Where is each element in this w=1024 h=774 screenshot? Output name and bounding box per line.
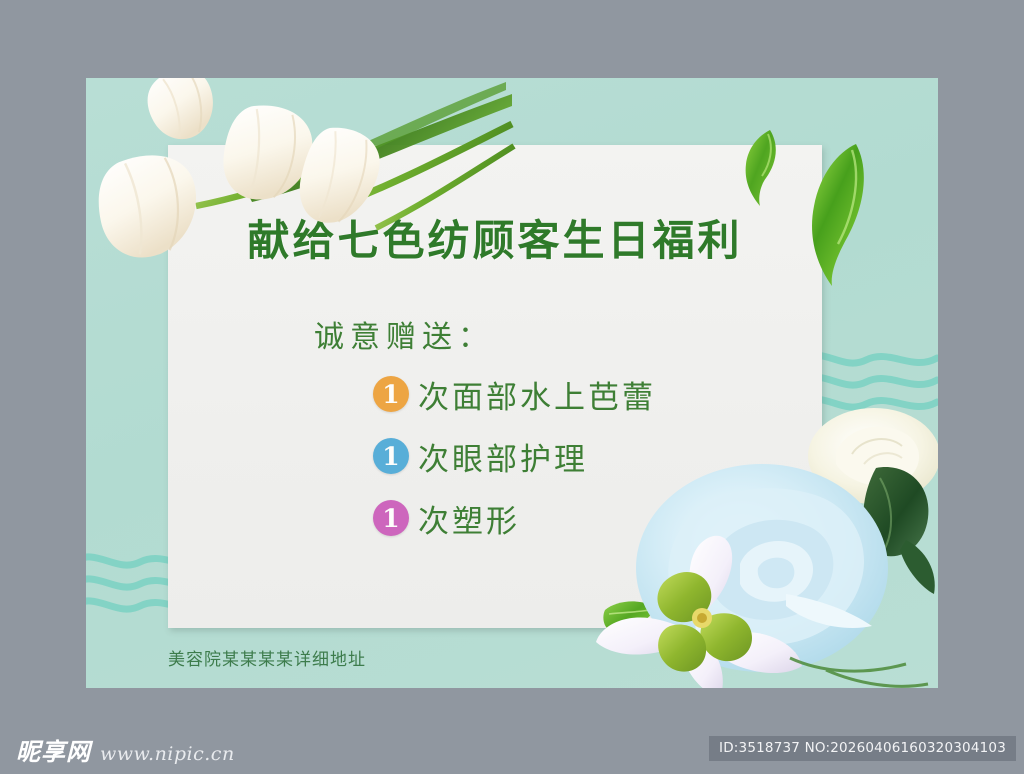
intro-text: 诚意赠送： <box>314 312 494 356</box>
site-brand: 昵享网 www.nipic.cn <box>16 732 235 767</box>
site-url: www.nipic.cn <box>100 743 235 765</box>
gift-label-2: 次眼部护理 <box>418 434 588 479</box>
green-leaf-icon <box>736 128 788 212</box>
poster-panel: 献给七色纺顾客生日福利 诚意赠送： 1 次面部水上芭蕾 1 次眼部护理 1 次塑… <box>86 78 938 688</box>
count-badge-3: 1 <box>373 500 409 536</box>
green-leaf-icon <box>804 140 874 294</box>
address-text: 美容院某某某某详细地址 <box>168 645 366 670</box>
poster-stage: 献给七色纺顾客生日福利 诚意赠送： 1 次面部水上芭蕾 1 次眼部护理 1 次塑… <box>0 0 1024 720</box>
watermark-bar: 昵享网 www.nipic.cn ID:3518737 NO:202604061… <box>0 720 1024 774</box>
count-badge-1: 1 <box>373 376 409 412</box>
gift-label-3: 次塑形 <box>418 496 520 541</box>
image-id-badge: ID:3518737 NO:20260406160320304103 <box>709 736 1016 761</box>
white-tulips-decoration <box>86 78 516 294</box>
site-logo: 昵享网 <box>16 732 91 767</box>
count-badge-2: 1 <box>373 438 409 474</box>
floral-cluster-decoration <box>576 408 938 688</box>
